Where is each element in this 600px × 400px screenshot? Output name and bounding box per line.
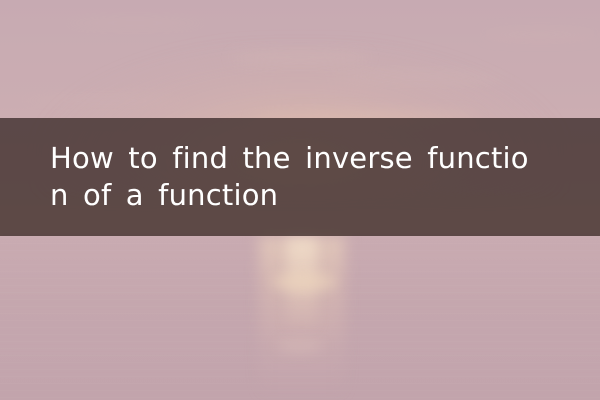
caption-title: How to find the inverse functio n of a f… [50, 140, 600, 214]
cloud-wisp [480, 30, 600, 39]
sun-reflection-highlight [272, 272, 336, 292]
cloud-wisp [60, 18, 210, 28]
sun-reflection-tail [277, 338, 323, 354]
caption-banner: How to find the inverse functio n of a f… [0, 118, 600, 236]
image-canvas: How to find the inverse functio n of a f… [0, 0, 600, 400]
